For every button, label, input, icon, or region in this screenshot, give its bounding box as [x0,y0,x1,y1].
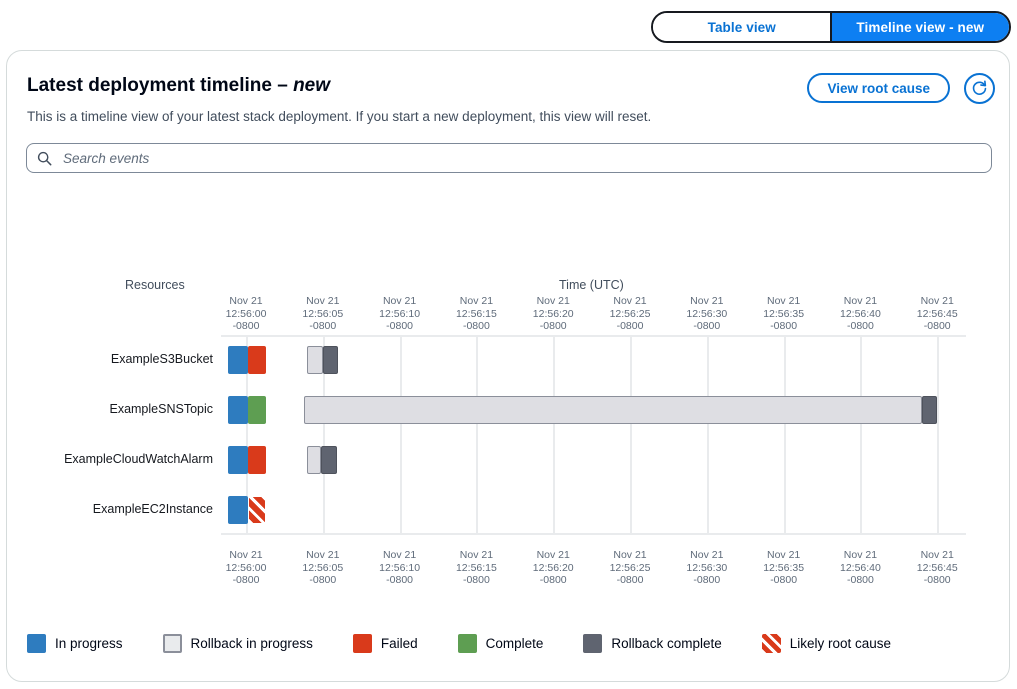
x-tick-label: Nov 2112:56:20-0800 [509,295,597,333]
timeline-bar-segment[interactable] [248,446,266,474]
x-tick-line: 12:56:45 [893,562,981,575]
x-tick-line: -0800 [279,574,367,587]
x-tick-line: 12:56:15 [432,308,520,321]
legend-swatch [27,634,46,653]
x-tick-line: -0800 [740,320,828,333]
x-tick-label: Nov 2112:56:35-0800 [740,295,828,333]
x-tick-line: -0800 [893,574,981,587]
resource-row-label: ExampleSNSTopic [13,402,213,416]
x-tick-label: Nov 2112:56:05-0800 [279,549,367,587]
x-tick-label: Nov 2112:56:10-0800 [356,549,444,587]
search-events-box[interactable] [26,143,992,173]
x-tick-label: Nov 2112:56:40-0800 [816,549,904,587]
timeline-bar-segment[interactable] [304,396,922,424]
gridline [476,335,478,535]
x-tick-line: 12:56:00 [202,308,290,321]
legend-label: Rollback complete [611,636,721,651]
x-tick-label: Nov 2112:56:05-0800 [279,295,367,333]
legend-label: In progress [55,636,123,651]
x-tick-line: 12:56:25 [586,308,674,321]
x-tick-label: Nov 2112:56:00-0800 [202,549,290,587]
timeline-bar-segment[interactable] [248,346,266,374]
x-tick-line: Nov 21 [356,549,444,562]
x-tick-label: Nov 2112:56:25-0800 [586,295,674,333]
gridline [860,335,862,535]
x-tick-line: 12:56:30 [663,308,751,321]
x-tick-label: Nov 2112:56:45-0800 [893,549,981,587]
x-tick-line: Nov 21 [356,295,444,308]
x-tick-line: 12:56:10 [356,308,444,321]
x-tick-line: Nov 21 [509,549,597,562]
timeline-bar-segment[interactable] [323,346,338,374]
x-tick-line: 12:56:20 [509,562,597,575]
legend-label: Likely root cause [790,636,891,651]
x-tick-line: -0800 [740,574,828,587]
timeline-bar-segment[interactable] [228,446,248,474]
timeline-bar-segment[interactable] [248,396,266,424]
x-tick-label: Nov 2112:56:25-0800 [586,549,674,587]
deployment-timeline-chart: Resources Time (UTC) Nov 2112:56:00-0800… [7,211,1011,611]
legend-swatch [353,634,372,653]
time-axis-title: Time (UTC) [559,278,624,292]
x-tick-line: 12:56:45 [893,308,981,321]
x-tick-label: Nov 2112:56:00-0800 [202,295,290,333]
legend-item[interactable]: Rollback in progress [163,634,313,653]
x-tick-line: Nov 21 [740,295,828,308]
x-tick-line: Nov 21 [816,549,904,562]
timeline-bar-segment[interactable] [228,346,248,374]
x-tick-line: Nov 21 [740,549,828,562]
x-tick-line: 12:56:20 [509,308,597,321]
tab-table-view[interactable]: Table view [653,13,831,41]
legend-swatch [163,634,182,653]
x-tick-line: -0800 [586,574,674,587]
x-tick-line: -0800 [893,320,981,333]
x-tick-label: Nov 2112:56:40-0800 [816,295,904,333]
gridline [707,335,709,535]
x-tick-line: Nov 21 [663,549,751,562]
resource-row-labels: ExampleS3BucketExampleSNSTopicExampleClo… [7,335,213,535]
x-tick-line: Nov 21 [202,295,290,308]
legend-swatch [458,634,477,653]
x-tick-line: -0800 [509,320,597,333]
x-tick-label: Nov 2112:56:35-0800 [740,549,828,587]
x-tick-label: Nov 2112:56:20-0800 [509,549,597,587]
x-tick-line: 12:56:00 [202,562,290,575]
deployment-timeline-card: Latest deployment timeline – new This is… [6,50,1010,682]
x-tick-line: -0800 [586,320,674,333]
x-tick-line: Nov 21 [432,295,520,308]
view-switcher[interactable]: Table view Timeline view - new [651,11,1011,43]
gridline [400,335,402,535]
x-tick-line: Nov 21 [432,549,520,562]
gridline [553,335,555,535]
x-tick-line: -0800 [202,320,290,333]
x-tick-line: -0800 [279,320,367,333]
x-tick-line: Nov 21 [816,295,904,308]
x-tick-label: Nov 2112:56:30-0800 [663,295,751,333]
refresh-button[interactable] [964,73,995,104]
page-subtitle: This is a timeline view of your latest s… [27,109,651,124]
gridline [784,335,786,535]
x-tick-line: 12:56:05 [279,562,367,575]
x-tick-line: -0800 [432,320,520,333]
x-tick-line: -0800 [202,574,290,587]
x-tick-label: Nov 2112:56:15-0800 [432,295,520,333]
x-tick-line: 12:56:30 [663,562,751,575]
legend-item[interactable]: Likely root cause [762,634,891,653]
gridline [630,335,632,535]
x-tick-label: Nov 2112:56:10-0800 [356,295,444,333]
legend-swatch [762,634,781,653]
x-tick-line: Nov 21 [586,295,674,308]
legend-item[interactable]: Complete [458,634,544,653]
x-tick-line: 12:56:10 [356,562,444,575]
chart-legend: In progressRollback in progressFailedCom… [27,631,931,655]
timeline-bar-segment[interactable] [307,446,321,474]
x-tick-line: -0800 [816,320,904,333]
search-input[interactable] [61,150,981,167]
tab-timeline-view[interactable]: Timeline view - new [830,13,1010,41]
timeline-bar-segment[interactable] [307,346,322,374]
timeline-plot-area [221,335,966,535]
x-tick-line: -0800 [509,574,597,587]
resource-row-label: ExampleCloudWatchAlarm [13,452,213,466]
x-tick-line: -0800 [432,574,520,587]
timeline-bar-segment[interactable] [321,446,336,474]
legend-label: Failed [381,636,418,651]
x-tick-line: 12:56:40 [816,308,904,321]
page-title-main: Latest deployment timeline – [27,75,293,96]
x-tick-line: -0800 [816,574,904,587]
x-tick-line: Nov 21 [279,295,367,308]
timeline-view-page: Table view Timeline view - new Latest de… [0,0,1017,689]
x-tick-line: -0800 [356,320,444,333]
x-tick-line: -0800 [663,574,751,587]
x-tick-line: 12:56:05 [279,308,367,321]
view-root-cause-button[interactable]: View root cause [807,73,950,103]
legend-item[interactable]: Rollback complete [583,634,721,653]
timeline-bar-segment[interactable] [228,396,248,424]
x-tick-line: Nov 21 [509,295,597,308]
x-tick-line: 12:56:15 [432,562,520,575]
x-tick-line: 12:56:35 [740,562,828,575]
x-tick-line: 12:56:35 [740,308,828,321]
timeline-bar-segment[interactable] [922,396,937,424]
x-tick-line: Nov 21 [586,549,674,562]
x-tick-line: -0800 [356,574,444,587]
legend-label: Complete [486,636,544,651]
resource-row-label: ExampleS3Bucket [13,352,213,366]
refresh-icon [971,80,988,97]
resource-row-label: ExampleEC2Instance [13,502,213,516]
x-tick-line: 12:56:25 [586,562,674,575]
x-tick-label: Nov 2112:56:15-0800 [432,549,520,587]
x-tick-line: -0800 [663,320,751,333]
x-tick-label: Nov 2112:56:30-0800 [663,549,751,587]
legend-item[interactable]: Failed [353,634,418,653]
x-tick-line: Nov 21 [663,295,751,308]
plot-bottom-border [221,533,966,535]
timeline-bar-segment[interactable] [248,496,266,524]
legend-swatch [583,634,602,653]
x-tick-line: 12:56:40 [816,562,904,575]
timeline-bar-segment[interactable] [228,496,248,524]
x-tick-line: Nov 21 [279,549,367,562]
resources-axis-title: Resources [125,278,185,292]
x-tick-line: Nov 21 [202,549,290,562]
legend-item[interactable]: In progress [27,634,123,653]
x-tick-line: Nov 21 [893,295,981,308]
page-title-emphasis: new [293,75,330,96]
search-icon [37,151,52,166]
plot-top-border [221,335,966,337]
x-tick-line: Nov 21 [893,549,981,562]
page-title: Latest deployment timeline – new [27,75,330,97]
gridline [937,335,939,535]
legend-label: Rollback in progress [191,636,313,651]
x-tick-label: Nov 2112:56:45-0800 [893,295,981,333]
